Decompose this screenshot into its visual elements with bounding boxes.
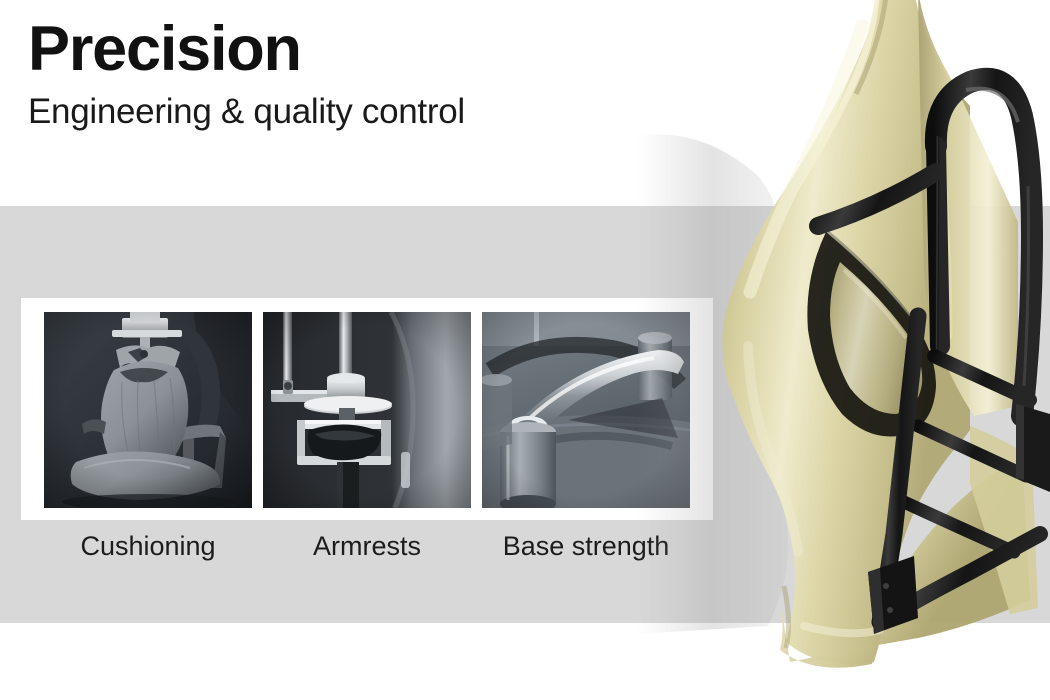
thumbnail-armrests[interactable] [263, 312, 471, 508]
header-block: Precision Engineering & quality control [28, 18, 688, 132]
caption-armrests: Armrests [263, 526, 471, 566]
thumbnail-row [44, 312, 688, 508]
chair-base-strength-test-photo [482, 312, 690, 508]
caption-row: Cushioning Armrests Base strength [44, 526, 688, 566]
seat-cushion-press-test-photo [44, 312, 252, 508]
promo-banner: Precision Engineering & quality control [0, 0, 1050, 700]
thumbnail-base-strength[interactable] [482, 312, 690, 508]
armrest-load-test-photo [263, 312, 471, 508]
page-title: Precision [28, 18, 688, 81]
page-subtitle: Engineering & quality control [28, 93, 688, 132]
thumbnail-cushioning[interactable] [44, 312, 252, 508]
caption-cushioning: Cushioning [44, 526, 252, 566]
caption-base-strength: Base strength [482, 526, 690, 566]
